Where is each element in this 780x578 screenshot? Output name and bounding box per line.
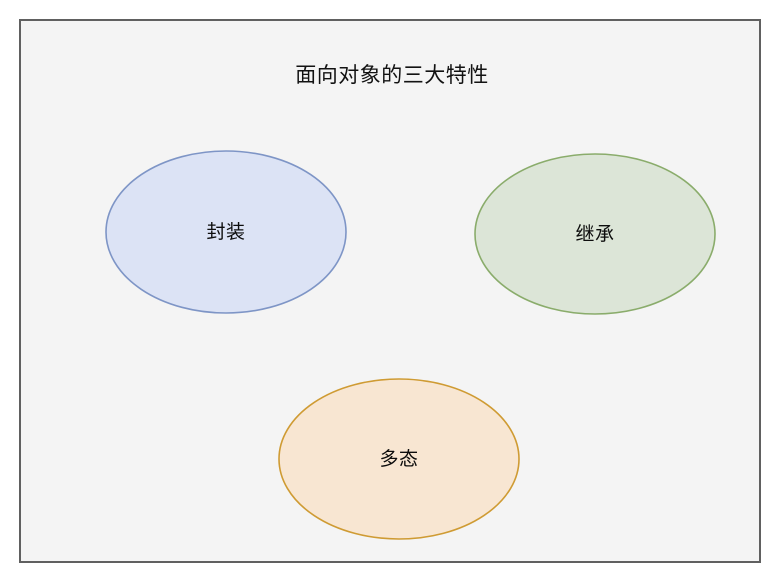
diagram-canvas: 面向对象的三大特性 封装 继承 多态 [0, 0, 780, 578]
shapes-svg [21, 21, 763, 565]
node-label-encapsulation: 封装 [206, 220, 245, 244]
node-layer: 封装 继承 多态 [21, 21, 763, 565]
diagram-frame: 面向对象的三大特性 封装 继承 多态 [19, 19, 761, 563]
node-label-polymorphism: 多态 [379, 447, 418, 471]
node-label-inheritance: 继承 [575, 222, 614, 246]
